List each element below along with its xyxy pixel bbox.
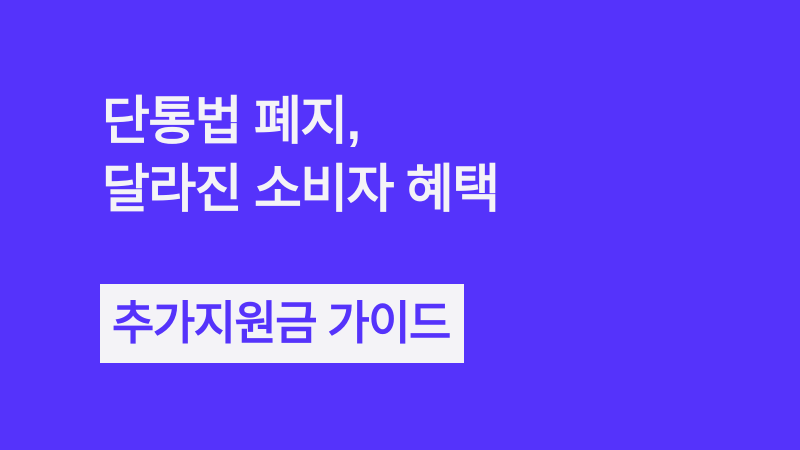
- headline-line-2: 달라진 소비자 혜택: [102, 156, 720, 224]
- badge-container: 추가지원금 가이드: [100, 284, 720, 363]
- headline-line-1: 단통법 폐지,: [102, 88, 720, 156]
- highlight-badge: 추가지원금 가이드: [100, 284, 464, 363]
- title-card: 단통법 폐지, 달라진 소비자 혜택 추가지원금 가이드: [0, 0, 800, 450]
- page-title: 단통법 폐지, 달라진 소비자 혜택: [100, 88, 720, 224]
- content-stack: 단통법 폐지, 달라진 소비자 혜택 추가지원금 가이드: [100, 88, 720, 363]
